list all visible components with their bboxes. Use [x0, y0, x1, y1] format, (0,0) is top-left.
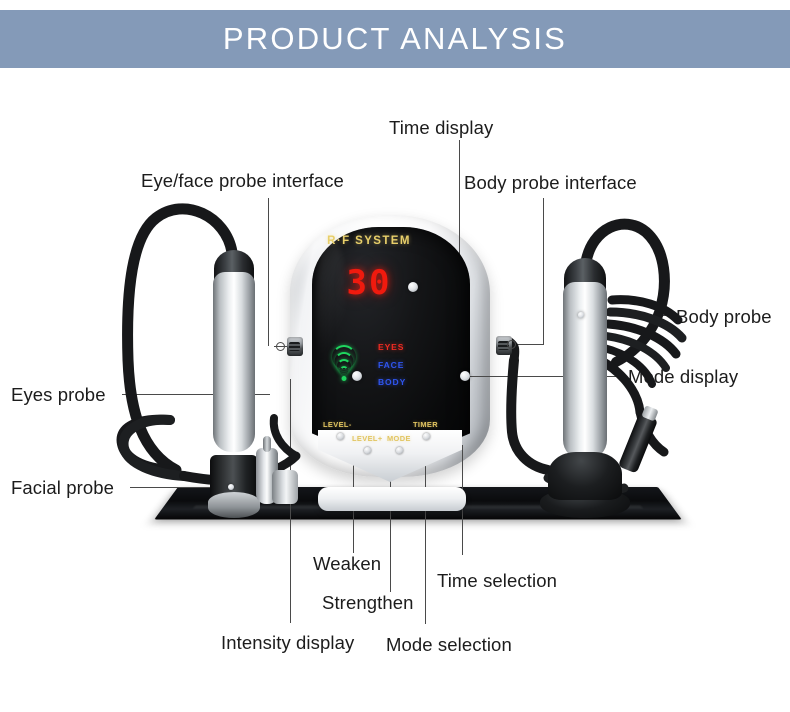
body-probe-handle — [563, 282, 607, 460]
signal-dot-icon — [342, 376, 347, 381]
leader-time-display-v — [459, 140, 460, 208]
marker-time-display — [408, 282, 418, 292]
mode-item-body: BODY — [378, 378, 406, 387]
rf-console: R·F SYSTEM 30 EYES FACE BODY LEVEL- LEVE… — [290, 215, 490, 485]
leader-mode-selection — [425, 459, 426, 624]
leader-bodyprobe-interface-h — [512, 344, 544, 345]
mode-button[interactable] — [396, 447, 403, 454]
leader-eyeface-interface-v — [268, 198, 269, 346]
callout-eyes-probe: Eyes probe — [11, 384, 106, 406]
mode-label: MODE — [387, 434, 411, 443]
marker-mode-display — [460, 371, 470, 381]
console-stand — [318, 487, 466, 511]
callout-eye-face-probe-interface: Eye/face probe interface — [141, 170, 344, 192]
mode-item-eyes: EYES — [378, 343, 406, 352]
marker-intensity — [352, 371, 362, 381]
mode-display-indicator: EYES FACE BODY — [378, 343, 406, 396]
body-probe-collar — [548, 452, 622, 500]
level-plus-label: LEVEL+ — [352, 434, 383, 443]
callout-body-probe-interface: Body probe interface — [464, 172, 637, 194]
brand-label: R·F SYSTEM — [290, 235, 448, 247]
eye-probe-base — [208, 492, 260, 518]
marker-facial-probe — [228, 484, 234, 490]
timer-button[interactable] — [423, 433, 430, 440]
leader-bodyprobe-interface-v — [543, 198, 544, 344]
level-minus-label: LEVEL- — [323, 420, 352, 429]
product-analysis-page: PRODUCT ANALYSIS — [0, 0, 790, 712]
callout-mode-selection: Mode selection — [386, 634, 512, 656]
marker-bodyprobe-port — [507, 340, 516, 349]
eye-probe-handle — [213, 272, 255, 452]
callout-intensity-display: Intensity display — [221, 632, 354, 654]
callout-strengthen: Strengthen — [322, 592, 414, 614]
callout-time-display: Time display — [389, 117, 493, 139]
marker-eyeface-port — [276, 342, 285, 351]
body-probe-connector-plug — [618, 412, 658, 473]
callout-body-probe: Body probe — [676, 306, 772, 328]
mode-item-face: FACE — [378, 361, 406, 370]
callout-time-selection: Time selection — [437, 570, 557, 592]
eye-face-probe-port — [287, 337, 303, 356]
level-plus-button[interactable] — [364, 447, 371, 454]
callout-facial-probe: Facial probe — [11, 477, 114, 499]
callout-weaken: Weaken — [313, 553, 381, 575]
time-display: 30 — [290, 263, 448, 303]
callout-mode-display: Mode display — [628, 366, 738, 388]
marker-body-probe — [578, 312, 584, 318]
timer-label: TIMER — [413, 420, 438, 429]
level-minus-button[interactable] — [337, 433, 344, 440]
probe-holder-clamp — [272, 470, 298, 504]
intensity-display-indicator — [326, 345, 362, 391]
signal-arc-icon — [340, 366, 349, 375]
